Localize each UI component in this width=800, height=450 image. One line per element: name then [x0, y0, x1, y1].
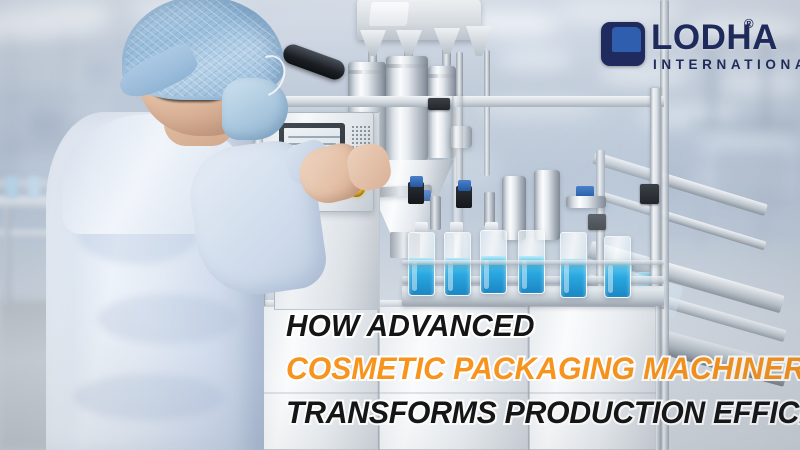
- bottle-6: [604, 236, 631, 298]
- headline-line-2-accent: COSMETIC PACKAGING MACHINERY: [286, 353, 776, 385]
- headline-block: HOW ADVANCED COSMETIC PACKAGING MACHINER…: [286, 310, 796, 428]
- lodha-bracket-square-icon: [601, 22, 645, 66]
- conveyor-guide-bar: [402, 260, 664, 265]
- valve-indicator-1: [410, 176, 423, 187]
- banner-image: LODHA ® INTERNATIONAL HOW ADVANCED COSME…: [0, 0, 800, 450]
- funnel-1: [360, 30, 386, 56]
- machine-head-label: [369, 2, 410, 26]
- frame-bracket-2: [428, 98, 450, 110]
- funnel-3: [434, 28, 460, 54]
- logo-wordmark: LODHA: [651, 19, 778, 57]
- funnel-2: [396, 30, 422, 56]
- headline-line-3: TRANSFORMS PRODUCTION EFFICIENCY: [286, 397, 776, 429]
- fill-nozzle-2: [484, 192, 495, 226]
- factory-operator: [18, 0, 298, 450]
- bottle-5: [560, 232, 587, 298]
- logo-tagline: INTERNATIONAL: [653, 57, 800, 72]
- lodha-logo[interactable]: LODHA ® INTERNATIONAL: [601, 16, 793, 78]
- bottle-liquid: [605, 261, 630, 297]
- headline-line-1: HOW ADVANCED: [286, 310, 776, 341]
- frame-bracket-5: [640, 184, 659, 204]
- registered-trademark-icon: ®: [744, 16, 754, 31]
- fill-nozzle-1: [430, 196, 441, 230]
- valve-indicator-2: [458, 180, 471, 191]
